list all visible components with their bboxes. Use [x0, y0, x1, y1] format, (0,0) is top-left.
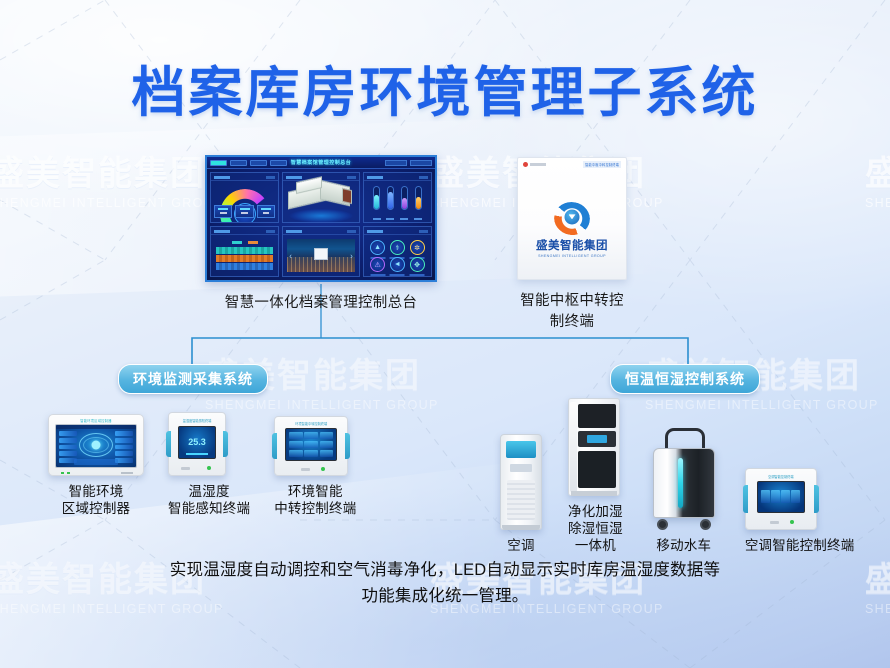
panel-header	[211, 173, 278, 181]
ac-grill	[507, 480, 535, 520]
device-air-conditioner[interactable]: 空调	[500, 434, 542, 555]
watermark: 盛美智能集团 SHENGMEI INTELLIGENT GROUP	[0, 146, 224, 210]
dashboard-user-chip[interactable]	[410, 160, 432, 166]
panel-header	[211, 227, 278, 235]
building-3d-model	[282, 173, 360, 219]
dashboard-screenshot[interactable]: 智慧档案馆管理控制总台 86	[205, 155, 437, 282]
water-cart-image	[649, 428, 719, 530]
panel-header	[283, 227, 359, 235]
video-feed[interactable]: ‹ ›	[287, 239, 355, 272]
device-label: 温湿度 智能感知终端	[168, 484, 250, 518]
alert-icon[interactable]: ⚠	[370, 257, 385, 272]
dashboard-panel-tubes	[363, 172, 432, 223]
device-label: 空调	[500, 538, 542, 555]
purifier-tower-image	[568, 398, 620, 496]
page-title: 档案库房环境管理子系统	[0, 48, 890, 127]
device-label: 智能环境 区域控制器	[48, 484, 144, 518]
status-led-icon	[207, 466, 211, 470]
watermark-en: SHENGMEI INTELLIGENT GROUP	[205, 398, 439, 412]
status-led-icon	[321, 467, 325, 471]
dashboard-header: 智慧档案馆管理控制总台	[207, 157, 435, 169]
dashboard-panel-video: ‹ ›	[282, 226, 360, 277]
device-screen-title: 智能环境区域控制器	[80, 418, 111, 423]
cart-wheel-icon	[657, 519, 668, 530]
trend-chart	[216, 241, 273, 270]
ac-display	[510, 464, 532, 472]
device-label: 空调智能控制终端	[745, 538, 855, 555]
console-label: 智慧一体化档案管理控制总台	[205, 291, 437, 312]
summary-caption-line-2: 功能集成化统一管理。	[60, 584, 830, 610]
dashboard-panel-controls: ▲ ⚕ ✲ ⚠ ◄ ✥	[363, 226, 432, 277]
summary-caption: 实现温湿度自动调控和空气消毒净化，LED自动显示实时库房温湿度数据等 功能集成化…	[60, 558, 830, 609]
watermark-en: SHENGMEI INTELLIGENT GROUP	[865, 196, 890, 210]
uv-lamp-icon	[678, 458, 683, 508]
device-screen-title: 温湿度智能感知终端	[183, 418, 212, 423]
device-row-climate: 空调 净化加湿 除湿恒湿 一体机 移动水车	[500, 398, 854, 555]
watermark: 盛美智能集团 SHENGMEI INTELLIGENT GROUP	[865, 552, 890, 616]
broadcast-icon[interactable]: ◄	[390, 257, 405, 272]
device-knob	[301, 468, 310, 471]
device-screen	[757, 481, 805, 513]
console-block: 智慧档案馆管理控制总台 86	[205, 155, 437, 312]
tube-gauge	[401, 186, 408, 210]
control-icon-grid: ▲ ⚕ ✲ ⚠ ◄ ✥	[368, 239, 427, 273]
humidity-icon[interactable]: ⚕	[390, 240, 405, 255]
access-control-icon[interactable]: ✥	[410, 257, 425, 272]
hub-block: 智能中枢中转控制终端 盛美智能集团 SHENGMEI INTELLIGENT G…	[517, 157, 627, 331]
dashboard-header-title: 智慧档案馆管理控制总台	[291, 159, 352, 166]
watermark: 盛美智能集团 SHENGMEI INTELLIGENT GROUP	[865, 146, 890, 210]
ac-vent-icon	[506, 441, 536, 458]
device-ac-control-terminal[interactable]: 空调智能控制终端 空调智能控制终端	[745, 468, 855, 555]
dashboard-settings-chip[interactable]	[385, 160, 407, 166]
hub-label: 智能中枢中转控制终端	[517, 289, 627, 331]
device-area-controller[interactable]: 智能环境区域控制器 智能环境 区域控制器	[48, 414, 144, 518]
watermark-cn: 盛美智能集团	[865, 146, 890, 195]
tube-gauge	[415, 186, 422, 210]
device-row-monitoring: 智能环境区域控制器 智能环境 区域控制器 温湿度智能感知终端	[48, 412, 356, 518]
panel-header	[364, 227, 431, 235]
background-highlight-upper	[0, 102, 890, 299]
device-temp-humidity-sensor[interactable]: 温湿度智能感知终端 25.3 温湿度 智能感知终端	[168, 412, 250, 518]
summary-caption-line-1: 实现温湿度自动调控和空气消毒净化，LED自动显示实时库房温湿度数据等	[60, 558, 830, 584]
hub-brand-cn: 盛美智能集团	[518, 237, 626, 253]
tube-gauge-labels	[370, 218, 425, 221]
device-screen: 25.3	[178, 426, 216, 459]
cart-handle-icon	[665, 428, 705, 450]
tablet-controller-image: 智能环境区域控制器	[48, 414, 144, 476]
hub-terminal-device[interactable]: 智能中枢中转控制终端 盛美智能集团 SHENGMEI INTELLIGENT G…	[517, 157, 627, 280]
dashboard-nav-button-2[interactable]	[250, 160, 267, 166]
tube-gauge	[387, 186, 394, 210]
device-screen-title: 空调智能控制终端	[768, 474, 794, 479]
gauge-stat-row	[214, 205, 275, 218]
device-knob	[770, 521, 779, 524]
dashboard-panel-trend	[210, 226, 279, 277]
status-led-icon	[790, 520, 794, 524]
sensor-reading: 25.3	[188, 437, 206, 447]
hub-brand-logo: 盛美智能集团 SHENGMEI INTELLIGENT GROUP	[518, 202, 626, 258]
swoosh-logo-icon	[554, 202, 590, 235]
watermark-en: SHENGMEI INTELLIGENT GROUP	[0, 196, 224, 210]
dashboard-nav-button-1[interactable]	[230, 160, 247, 166]
sensor-terminal-image: 温湿度智能感知终端 25.3	[168, 412, 226, 476]
device-screen	[285, 428, 337, 461]
group-pill-climate[interactable]: 恒温恒湿控制系统	[610, 364, 760, 394]
archive-box-icon	[314, 248, 328, 260]
dashboard-nav-button-0[interactable]	[210, 160, 227, 166]
relay-terminal-image: 环境智能中转控制终端	[274, 416, 348, 476]
video-prev-arrow[interactable]: ‹	[289, 251, 292, 260]
dashboard-nav-button-3[interactable]	[270, 160, 287, 166]
panel-header	[364, 173, 431, 181]
device-mobile-water-cart[interactable]: 移动水车	[649, 428, 719, 555]
device-label: 环境智能 中转控制终端	[274, 484, 356, 518]
power-indicator-icon	[523, 162, 528, 167]
dashboard-panel-model	[282, 172, 360, 223]
device-label: 净化加湿 除湿恒湿 一体机	[568, 504, 623, 555]
hub-panel-header: 智能中枢中转控制终端	[518, 158, 626, 171]
stat-card	[257, 205, 275, 218]
watermark-en: SHENGMEI INTELLIGENT GROUP	[865, 602, 890, 616]
tube-gauge	[373, 186, 380, 210]
ac-control-terminal-image: 空调智能控制终端	[745, 468, 817, 530]
dashboard-header-right	[385, 160, 432, 166]
header-bar-decor	[530, 163, 546, 166]
device-label: 移动水车	[649, 538, 719, 555]
sterilize-icon[interactable]: ✲	[410, 240, 425, 255]
device-purifier-humidifier[interactable]: 净化加湿 除湿恒湿 一体机	[568, 398, 623, 555]
cabinet-ac-image	[500, 434, 542, 530]
dashboard-panel-gauge: 86	[210, 172, 279, 223]
hub-brand-en: SHENGMEI INTELLIGENT GROUP	[518, 254, 626, 258]
video-next-arrow[interactable]: ›	[350, 251, 353, 260]
stat-card	[214, 205, 232, 218]
air-purify-icon[interactable]: ▲	[370, 240, 385, 255]
cart-wheel-icon	[700, 519, 711, 530]
hub-panel-header-text: 智能中枢中转控制终端	[583, 161, 621, 168]
watermark-cn: 盛美智能集团	[0, 146, 224, 195]
tube-gauge-group	[370, 186, 425, 210]
dashboard-body: 86	[207, 169, 435, 280]
device-screen	[55, 424, 137, 468]
watermark-cn: 盛美智能集团	[865, 552, 890, 601]
device-screen-title: 环境智能中转控制终端	[295, 421, 327, 426]
device-knob	[181, 467, 190, 470]
group-pill-monitoring[interactable]: 环境监测采集系统	[118, 364, 268, 394]
trend-legend	[232, 241, 258, 244]
device-env-relay-terminal[interactable]: 环境智能中转控制终端 环境智能 中转控制终端	[274, 416, 356, 518]
stat-card	[235, 205, 253, 218]
